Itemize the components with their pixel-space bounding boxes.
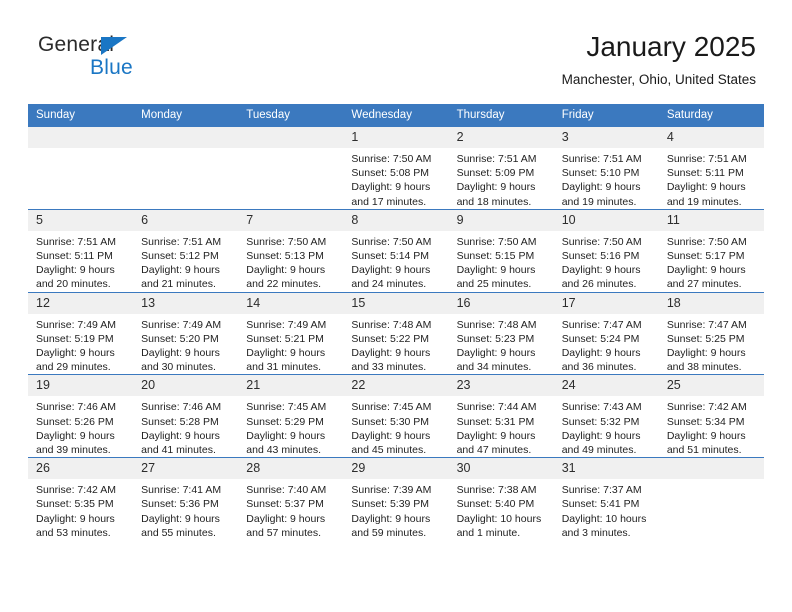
page-title: January 2025 bbox=[562, 30, 756, 64]
calendar-day-cell[interactable]: 14Sunrise: 7:49 AMSunset: 5:21 PMDayligh… bbox=[238, 292, 343, 375]
daylight-text-line2: and 31 minutes. bbox=[246, 360, 337, 374]
sunrise-text: Sunrise: 7:50 AM bbox=[457, 235, 548, 249]
day-number: 4 bbox=[659, 127, 764, 148]
daylight-text-line2: and 45 minutes. bbox=[351, 443, 442, 457]
day-sun-info: Sunrise: 7:43 AMSunset: 5:32 PMDaylight:… bbox=[554, 396, 659, 457]
sunrise-text: Sunrise: 7:43 AM bbox=[562, 400, 653, 414]
calendar-day-cell[interactable]: 28Sunrise: 7:40 AMSunset: 5:37 PMDayligh… bbox=[238, 458, 343, 540]
day-sun-info: Sunrise: 7:46 AMSunset: 5:26 PMDaylight:… bbox=[28, 396, 133, 457]
daylight-text-line2: and 43 minutes. bbox=[246, 443, 337, 457]
sunset-text: Sunset: 5:24 PM bbox=[562, 332, 653, 346]
sunrise-text: Sunrise: 7:42 AM bbox=[36, 483, 127, 497]
sunset-text: Sunset: 5:16 PM bbox=[562, 249, 653, 263]
sunset-text: Sunset: 5:20 PM bbox=[141, 332, 232, 346]
day-number bbox=[238, 127, 343, 148]
sunrise-text: Sunrise: 7:50 AM bbox=[351, 235, 442, 249]
day-number: 20 bbox=[133, 375, 238, 396]
calendar-day-cell[interactable]: 27Sunrise: 7:41 AMSunset: 5:36 PMDayligh… bbox=[133, 458, 238, 540]
daylight-text-line1: Daylight: 9 hours bbox=[141, 512, 232, 526]
day-sun-info: Sunrise: 7:45 AMSunset: 5:29 PMDaylight:… bbox=[238, 396, 343, 457]
day-sun-info: Sunrise: 7:40 AMSunset: 5:37 PMDaylight:… bbox=[238, 479, 343, 540]
daylight-text-line2: and 36 minutes. bbox=[562, 360, 653, 374]
sunset-text: Sunset: 5:30 PM bbox=[351, 415, 442, 429]
daylight-text-line2: and 49 minutes. bbox=[562, 443, 653, 457]
calendar-day-cell[interactable]: 4Sunrise: 7:51 AMSunset: 5:11 PMDaylight… bbox=[659, 127, 764, 210]
generalblue-logo[interactable]: General Blue bbox=[38, 33, 168, 83]
day-sun-info: Sunrise: 7:42 AMSunset: 5:34 PMDaylight:… bbox=[659, 396, 764, 457]
day-number: 31 bbox=[554, 458, 659, 479]
day-sun-info: Sunrise: 7:50 AMSunset: 5:08 PMDaylight:… bbox=[343, 148, 448, 209]
weekday-header-monday: Monday bbox=[133, 104, 238, 127]
calendar-cell-empty bbox=[28, 127, 133, 210]
day-sun-info: Sunrise: 7:49 AMSunset: 5:20 PMDaylight:… bbox=[133, 314, 238, 375]
calendar-table: Sunday Monday Tuesday Wednesday Thursday… bbox=[28, 104, 764, 540]
day-number: 6 bbox=[133, 210, 238, 231]
daylight-text-line1: Daylight: 9 hours bbox=[141, 429, 232, 443]
calendar-day-cell[interactable]: 23Sunrise: 7:44 AMSunset: 5:31 PMDayligh… bbox=[449, 375, 554, 458]
sunrise-text: Sunrise: 7:50 AM bbox=[246, 235, 337, 249]
calendar-week-row: 26Sunrise: 7:42 AMSunset: 5:35 PMDayligh… bbox=[28, 458, 764, 540]
calendar-cell-empty bbox=[659, 458, 764, 540]
day-number: 14 bbox=[238, 293, 343, 314]
daylight-text-line2: and 3 minutes. bbox=[562, 526, 653, 540]
day-number: 17 bbox=[554, 293, 659, 314]
sunrise-text: Sunrise: 7:49 AM bbox=[141, 318, 232, 332]
day-sun-info: Sunrise: 7:41 AMSunset: 5:36 PMDaylight:… bbox=[133, 479, 238, 540]
daylight-text-line1: Daylight: 9 hours bbox=[36, 429, 127, 443]
calendar-day-cell[interactable]: 11Sunrise: 7:50 AMSunset: 5:17 PMDayligh… bbox=[659, 209, 764, 292]
sunset-text: Sunset: 5:09 PM bbox=[457, 166, 548, 180]
calendar-day-cell[interactable]: 30Sunrise: 7:38 AMSunset: 5:40 PMDayligh… bbox=[449, 458, 554, 540]
sunrise-text: Sunrise: 7:44 AM bbox=[457, 400, 548, 414]
day-sun-info: Sunrise: 7:50 AMSunset: 5:15 PMDaylight:… bbox=[449, 231, 554, 292]
calendar-day-cell[interactable]: 25Sunrise: 7:42 AMSunset: 5:34 PMDayligh… bbox=[659, 375, 764, 458]
daylight-text-line1: Daylight: 9 hours bbox=[562, 429, 653, 443]
day-sun-info: Sunrise: 7:50 AMSunset: 5:17 PMDaylight:… bbox=[659, 231, 764, 292]
sunset-text: Sunset: 5:13 PM bbox=[246, 249, 337, 263]
sunrise-text: Sunrise: 7:51 AM bbox=[36, 235, 127, 249]
page-header: General Blue January 2025 Manchester, Oh… bbox=[0, 0, 792, 100]
daylight-text-line1: Daylight: 10 hours bbox=[562, 512, 653, 526]
day-number: 27 bbox=[133, 458, 238, 479]
calendar-week-row: 1Sunrise: 7:50 AMSunset: 5:08 PMDaylight… bbox=[28, 127, 764, 210]
sunrise-text: Sunrise: 7:45 AM bbox=[351, 400, 442, 414]
calendar-day-cell[interactable]: 31Sunrise: 7:37 AMSunset: 5:41 PMDayligh… bbox=[554, 458, 659, 540]
day-sun-info: Sunrise: 7:39 AMSunset: 5:39 PMDaylight:… bbox=[343, 479, 448, 540]
daylight-text-line2: and 19 minutes. bbox=[667, 195, 758, 209]
daylight-text-line1: Daylight: 9 hours bbox=[351, 512, 442, 526]
day-number: 16 bbox=[449, 293, 554, 314]
sunset-text: Sunset: 5:41 PM bbox=[562, 497, 653, 511]
day-sun-info: Sunrise: 7:48 AMSunset: 5:23 PMDaylight:… bbox=[449, 314, 554, 375]
daylight-text-line1: Daylight: 9 hours bbox=[562, 346, 653, 360]
calendar-day-cell[interactable]: 5Sunrise: 7:51 AMSunset: 5:11 PMDaylight… bbox=[28, 209, 133, 292]
calendar-day-cell[interactable]: 15Sunrise: 7:48 AMSunset: 5:22 PMDayligh… bbox=[343, 292, 448, 375]
sunset-text: Sunset: 5:12 PM bbox=[141, 249, 232, 263]
day-sun-info: Sunrise: 7:51 AMSunset: 5:12 PMDaylight:… bbox=[133, 231, 238, 292]
daylight-text-line1: Daylight: 9 hours bbox=[141, 263, 232, 277]
daylight-text-line2: and 57 minutes. bbox=[246, 526, 337, 540]
daylight-text-line1: Daylight: 9 hours bbox=[562, 180, 653, 194]
calendar-day-cell[interactable]: 13Sunrise: 7:49 AMSunset: 5:20 PMDayligh… bbox=[133, 292, 238, 375]
daylight-text-line2: and 26 minutes. bbox=[562, 277, 653, 291]
sunrise-text: Sunrise: 7:39 AM bbox=[351, 483, 442, 497]
day-number: 21 bbox=[238, 375, 343, 396]
daylight-text-line1: Daylight: 10 hours bbox=[457, 512, 548, 526]
day-sun-info: Sunrise: 7:50 AMSunset: 5:14 PMDaylight:… bbox=[343, 231, 448, 292]
sunrise-text: Sunrise: 7:51 AM bbox=[562, 152, 653, 166]
daylight-text-line1: Daylight: 9 hours bbox=[36, 346, 127, 360]
calendar-day-cell[interactable]: 24Sunrise: 7:43 AMSunset: 5:32 PMDayligh… bbox=[554, 375, 659, 458]
daylight-text-line1: Daylight: 9 hours bbox=[667, 346, 758, 360]
daylight-text-line2: and 34 minutes. bbox=[457, 360, 548, 374]
day-sun-info: Sunrise: 7:51 AMSunset: 5:11 PMDaylight:… bbox=[659, 148, 764, 209]
weekday-header-sunday: Sunday bbox=[28, 104, 133, 127]
day-number: 24 bbox=[554, 375, 659, 396]
sunset-text: Sunset: 5:15 PM bbox=[457, 249, 548, 263]
day-sun-info: Sunrise: 7:45 AMSunset: 5:30 PMDaylight:… bbox=[343, 396, 448, 457]
weekday-header-friday: Friday bbox=[554, 104, 659, 127]
day-sun-info: Sunrise: 7:38 AMSunset: 5:40 PMDaylight:… bbox=[449, 479, 554, 540]
day-number: 8 bbox=[343, 210, 448, 231]
calendar-week-row: 12Sunrise: 7:49 AMSunset: 5:19 PMDayligh… bbox=[28, 292, 764, 375]
sunrise-text: Sunrise: 7:38 AM bbox=[457, 483, 548, 497]
sunset-text: Sunset: 5:35 PM bbox=[36, 497, 127, 511]
calendar-day-cell[interactable]: 18Sunrise: 7:47 AMSunset: 5:25 PMDayligh… bbox=[659, 292, 764, 375]
daylight-text-line2: and 51 minutes. bbox=[667, 443, 758, 457]
sunset-text: Sunset: 5:37 PM bbox=[246, 497, 337, 511]
daylight-text-line1: Daylight: 9 hours bbox=[457, 346, 548, 360]
daylight-text-line2: and 38 minutes. bbox=[667, 360, 758, 374]
weekday-header-thursday: Thursday bbox=[449, 104, 554, 127]
day-sun-info: Sunrise: 7:44 AMSunset: 5:31 PMDaylight:… bbox=[449, 396, 554, 457]
day-number: 2 bbox=[449, 127, 554, 148]
daylight-text-line2: and 18 minutes. bbox=[457, 195, 548, 209]
day-number: 9 bbox=[449, 210, 554, 231]
daylight-text-line2: and 39 minutes. bbox=[36, 443, 127, 457]
day-number: 11 bbox=[659, 210, 764, 231]
day-sun-info: Sunrise: 7:48 AMSunset: 5:22 PMDaylight:… bbox=[343, 314, 448, 375]
day-sun-info: Sunrise: 7:51 AMSunset: 5:09 PMDaylight:… bbox=[449, 148, 554, 209]
sunset-text: Sunset: 5:22 PM bbox=[351, 332, 442, 346]
day-sun-info: Sunrise: 7:50 AMSunset: 5:13 PMDaylight:… bbox=[238, 231, 343, 292]
sunset-text: Sunset: 5:25 PM bbox=[667, 332, 758, 346]
day-number: 19 bbox=[28, 375, 133, 396]
sunset-text: Sunset: 5:11 PM bbox=[36, 249, 127, 263]
daylight-text-line2: and 59 minutes. bbox=[351, 526, 442, 540]
daylight-text-line2: and 22 minutes. bbox=[246, 277, 337, 291]
calendar-day-cell[interactable]: 20Sunrise: 7:46 AMSunset: 5:28 PMDayligh… bbox=[133, 375, 238, 458]
sunset-text: Sunset: 5:08 PM bbox=[351, 166, 442, 180]
sunrise-text: Sunrise: 7:45 AM bbox=[246, 400, 337, 414]
calendar-day-cell[interactable]: 22Sunrise: 7:45 AMSunset: 5:30 PMDayligh… bbox=[343, 375, 448, 458]
sunrise-text: Sunrise: 7:48 AM bbox=[351, 318, 442, 332]
daylight-text-line1: Daylight: 9 hours bbox=[457, 429, 548, 443]
day-number: 7 bbox=[238, 210, 343, 231]
day-number: 18 bbox=[659, 293, 764, 314]
title-block: January 2025 Manchester, Ohio, United St… bbox=[562, 30, 756, 90]
daylight-text-line2: and 1 minute. bbox=[457, 526, 548, 540]
calendar-day-cell[interactable]: 3Sunrise: 7:51 AMSunset: 5:10 PMDaylight… bbox=[554, 127, 659, 210]
daylight-text-line1: Daylight: 9 hours bbox=[246, 429, 337, 443]
day-number: 10 bbox=[554, 210, 659, 231]
calendar-day-cell[interactable]: 26Sunrise: 7:42 AMSunset: 5:35 PMDayligh… bbox=[28, 458, 133, 540]
sunset-text: Sunset: 5:34 PM bbox=[667, 415, 758, 429]
day-number: 23 bbox=[449, 375, 554, 396]
daylight-text-line2: and 53 minutes. bbox=[36, 526, 127, 540]
daylight-text-line2: and 55 minutes. bbox=[141, 526, 232, 540]
sunrise-text: Sunrise: 7:41 AM bbox=[141, 483, 232, 497]
daylight-text-line1: Daylight: 9 hours bbox=[36, 263, 127, 277]
sunset-text: Sunset: 5:23 PM bbox=[457, 332, 548, 346]
daylight-text-line1: Daylight: 9 hours bbox=[246, 346, 337, 360]
daylight-text-line1: Daylight: 9 hours bbox=[562, 263, 653, 277]
day-number: 13 bbox=[133, 293, 238, 314]
calendar-day-cell[interactable]: 12Sunrise: 7:49 AMSunset: 5:19 PMDayligh… bbox=[28, 292, 133, 375]
daylight-text-line2: and 33 minutes. bbox=[351, 360, 442, 374]
day-number: 29 bbox=[343, 458, 448, 479]
day-number: 22 bbox=[343, 375, 448, 396]
calendar-page: General Blue January 2025 Manchester, Oh… bbox=[0, 0, 792, 612]
calendar-day-cell[interactable]: 29Sunrise: 7:39 AMSunset: 5:39 PMDayligh… bbox=[343, 458, 448, 540]
sunset-text: Sunset: 5:32 PM bbox=[562, 415, 653, 429]
daylight-text-line2: and 17 minutes. bbox=[351, 195, 442, 209]
daylight-text-line2: and 25 minutes. bbox=[457, 277, 548, 291]
daylight-text-line2: and 20 minutes. bbox=[36, 277, 127, 291]
daylight-text-line1: Daylight: 9 hours bbox=[457, 180, 548, 194]
daylight-text-line2: and 30 minutes. bbox=[141, 360, 232, 374]
day-number: 25 bbox=[659, 375, 764, 396]
sunrise-text: Sunrise: 7:46 AM bbox=[141, 400, 232, 414]
sunrise-text: Sunrise: 7:47 AM bbox=[562, 318, 653, 332]
calendar-week-row: 5Sunrise: 7:51 AMSunset: 5:11 PMDaylight… bbox=[28, 209, 764, 292]
daylight-text-line1: Daylight: 9 hours bbox=[351, 263, 442, 277]
sunrise-text: Sunrise: 7:51 AM bbox=[667, 152, 758, 166]
day-number: 30 bbox=[449, 458, 554, 479]
logo-triangle-icon bbox=[101, 37, 127, 55]
sunset-text: Sunset: 5:19 PM bbox=[36, 332, 127, 346]
calendar-day-cell[interactable]: 19Sunrise: 7:46 AMSunset: 5:26 PMDayligh… bbox=[28, 375, 133, 458]
weekday-header-wednesday: Wednesday bbox=[343, 104, 448, 127]
daylight-text-line1: Daylight: 9 hours bbox=[351, 180, 442, 194]
sunset-text: Sunset: 5:31 PM bbox=[457, 415, 548, 429]
day-number bbox=[133, 127, 238, 148]
calendar-day-cell[interactable]: 1Sunrise: 7:50 AMSunset: 5:08 PMDaylight… bbox=[343, 127, 448, 210]
day-sun-info: Sunrise: 7:49 AMSunset: 5:21 PMDaylight:… bbox=[238, 314, 343, 375]
calendar-day-cell[interactable]: 7Sunrise: 7:50 AMSunset: 5:13 PMDaylight… bbox=[238, 209, 343, 292]
page-subtitle: Manchester, Ohio, United States bbox=[562, 70, 756, 90]
sunset-text: Sunset: 5:40 PM bbox=[457, 497, 548, 511]
calendar-day-cell[interactable]: 16Sunrise: 7:48 AMSunset: 5:23 PMDayligh… bbox=[449, 292, 554, 375]
day-number bbox=[28, 127, 133, 148]
day-sun-info: Sunrise: 7:50 AMSunset: 5:16 PMDaylight:… bbox=[554, 231, 659, 292]
sunset-text: Sunset: 5:39 PM bbox=[351, 497, 442, 511]
daylight-text-line2: and 24 minutes. bbox=[351, 277, 442, 291]
day-sun-info: Sunrise: 7:51 AMSunset: 5:10 PMDaylight:… bbox=[554, 148, 659, 209]
calendar-day-cell[interactable]: 17Sunrise: 7:47 AMSunset: 5:24 PMDayligh… bbox=[554, 292, 659, 375]
sunset-text: Sunset: 5:29 PM bbox=[246, 415, 337, 429]
daylight-text-line1: Daylight: 9 hours bbox=[667, 429, 758, 443]
logo-text-blue: Blue bbox=[90, 56, 133, 80]
sunrise-text: Sunrise: 7:37 AM bbox=[562, 483, 653, 497]
calendar-day-cell[interactable]: 21Sunrise: 7:45 AMSunset: 5:29 PMDayligh… bbox=[238, 375, 343, 458]
sunrise-text: Sunrise: 7:46 AM bbox=[36, 400, 127, 414]
day-number bbox=[659, 458, 764, 479]
calendar-body: 1Sunrise: 7:50 AMSunset: 5:08 PMDaylight… bbox=[28, 127, 764, 541]
day-sun-info: Sunrise: 7:46 AMSunset: 5:28 PMDaylight:… bbox=[133, 396, 238, 457]
calendar-cell-empty bbox=[238, 127, 343, 210]
calendar-day-cell[interactable]: 2Sunrise: 7:51 AMSunset: 5:09 PMDaylight… bbox=[449, 127, 554, 210]
day-sun-info: Sunrise: 7:47 AMSunset: 5:25 PMDaylight:… bbox=[659, 314, 764, 375]
sunset-text: Sunset: 5:17 PM bbox=[667, 249, 758, 263]
daylight-text-line1: Daylight: 9 hours bbox=[351, 346, 442, 360]
day-sun-info: Sunrise: 7:37 AMSunset: 5:41 PMDaylight:… bbox=[554, 479, 659, 540]
day-number: 5 bbox=[28, 210, 133, 231]
sunrise-text: Sunrise: 7:47 AM bbox=[667, 318, 758, 332]
daylight-text-line1: Daylight: 9 hours bbox=[246, 263, 337, 277]
day-sun-info: Sunrise: 7:49 AMSunset: 5:19 PMDaylight:… bbox=[28, 314, 133, 375]
daylight-text-line1: Daylight: 9 hours bbox=[246, 512, 337, 526]
daylight-text-line2: and 29 minutes. bbox=[36, 360, 127, 374]
day-number: 3 bbox=[554, 127, 659, 148]
daylight-text-line1: Daylight: 9 hours bbox=[36, 512, 127, 526]
sunrise-text: Sunrise: 7:50 AM bbox=[667, 235, 758, 249]
calendar-day-cell[interactable]: 9Sunrise: 7:50 AMSunset: 5:15 PMDaylight… bbox=[449, 209, 554, 292]
weekday-header-tuesday: Tuesday bbox=[238, 104, 343, 127]
daylight-text-line2: and 27 minutes. bbox=[667, 277, 758, 291]
sunrise-text: Sunrise: 7:50 AM bbox=[562, 235, 653, 249]
sunset-text: Sunset: 5:26 PM bbox=[36, 415, 127, 429]
day-number: 1 bbox=[343, 127, 448, 148]
sunset-text: Sunset: 5:14 PM bbox=[351, 249, 442, 263]
day-number: 26 bbox=[28, 458, 133, 479]
daylight-text-line1: Daylight: 9 hours bbox=[457, 263, 548, 277]
sunrise-text: Sunrise: 7:48 AM bbox=[457, 318, 548, 332]
day-sun-info: Sunrise: 7:42 AMSunset: 5:35 PMDaylight:… bbox=[28, 479, 133, 540]
sunset-text: Sunset: 5:10 PM bbox=[562, 166, 653, 180]
daylight-text-line1: Daylight: 9 hours bbox=[351, 429, 442, 443]
sunrise-text: Sunrise: 7:49 AM bbox=[246, 318, 337, 332]
daylight-text-line2: and 47 minutes. bbox=[457, 443, 548, 457]
calendar-day-cell[interactable]: 10Sunrise: 7:50 AMSunset: 5:16 PMDayligh… bbox=[554, 209, 659, 292]
sunrise-text: Sunrise: 7:51 AM bbox=[141, 235, 232, 249]
sunset-text: Sunset: 5:36 PM bbox=[141, 497, 232, 511]
day-number: 15 bbox=[343, 293, 448, 314]
sunset-text: Sunset: 5:21 PM bbox=[246, 332, 337, 346]
calendar-day-cell[interactable]: 6Sunrise: 7:51 AMSunset: 5:12 PMDaylight… bbox=[133, 209, 238, 292]
sunrise-text: Sunrise: 7:40 AM bbox=[246, 483, 337, 497]
sunset-text: Sunset: 5:28 PM bbox=[141, 415, 232, 429]
sunrise-text: Sunrise: 7:49 AM bbox=[36, 318, 127, 332]
daylight-text-line1: Daylight: 9 hours bbox=[667, 180, 758, 194]
day-sun-info: Sunrise: 7:51 AMSunset: 5:11 PMDaylight:… bbox=[28, 231, 133, 292]
weekday-header-saturday: Saturday bbox=[659, 104, 764, 127]
sunrise-text: Sunrise: 7:51 AM bbox=[457, 152, 548, 166]
daylight-text-line1: Daylight: 9 hours bbox=[667, 263, 758, 277]
calendar-day-cell[interactable]: 8Sunrise: 7:50 AMSunset: 5:14 PMDaylight… bbox=[343, 209, 448, 292]
day-number: 28 bbox=[238, 458, 343, 479]
sunset-text: Sunset: 5:11 PM bbox=[667, 166, 758, 180]
daylight-text-line2: and 41 minutes. bbox=[141, 443, 232, 457]
calendar-week-row: 19Sunrise: 7:46 AMSunset: 5:26 PMDayligh… bbox=[28, 375, 764, 458]
sunrise-text: Sunrise: 7:42 AM bbox=[667, 400, 758, 414]
daylight-text-line2: and 21 minutes. bbox=[141, 277, 232, 291]
daylight-text-line1: Daylight: 9 hours bbox=[141, 346, 232, 360]
daylight-text-line2: and 19 minutes. bbox=[562, 195, 653, 209]
day-sun-info: Sunrise: 7:47 AMSunset: 5:24 PMDaylight:… bbox=[554, 314, 659, 375]
calendar-cell-empty bbox=[133, 127, 238, 210]
sunrise-text: Sunrise: 7:50 AM bbox=[351, 152, 442, 166]
calendar-header-row: Sunday Monday Tuesday Wednesday Thursday… bbox=[28, 104, 764, 127]
day-number: 12 bbox=[28, 293, 133, 314]
